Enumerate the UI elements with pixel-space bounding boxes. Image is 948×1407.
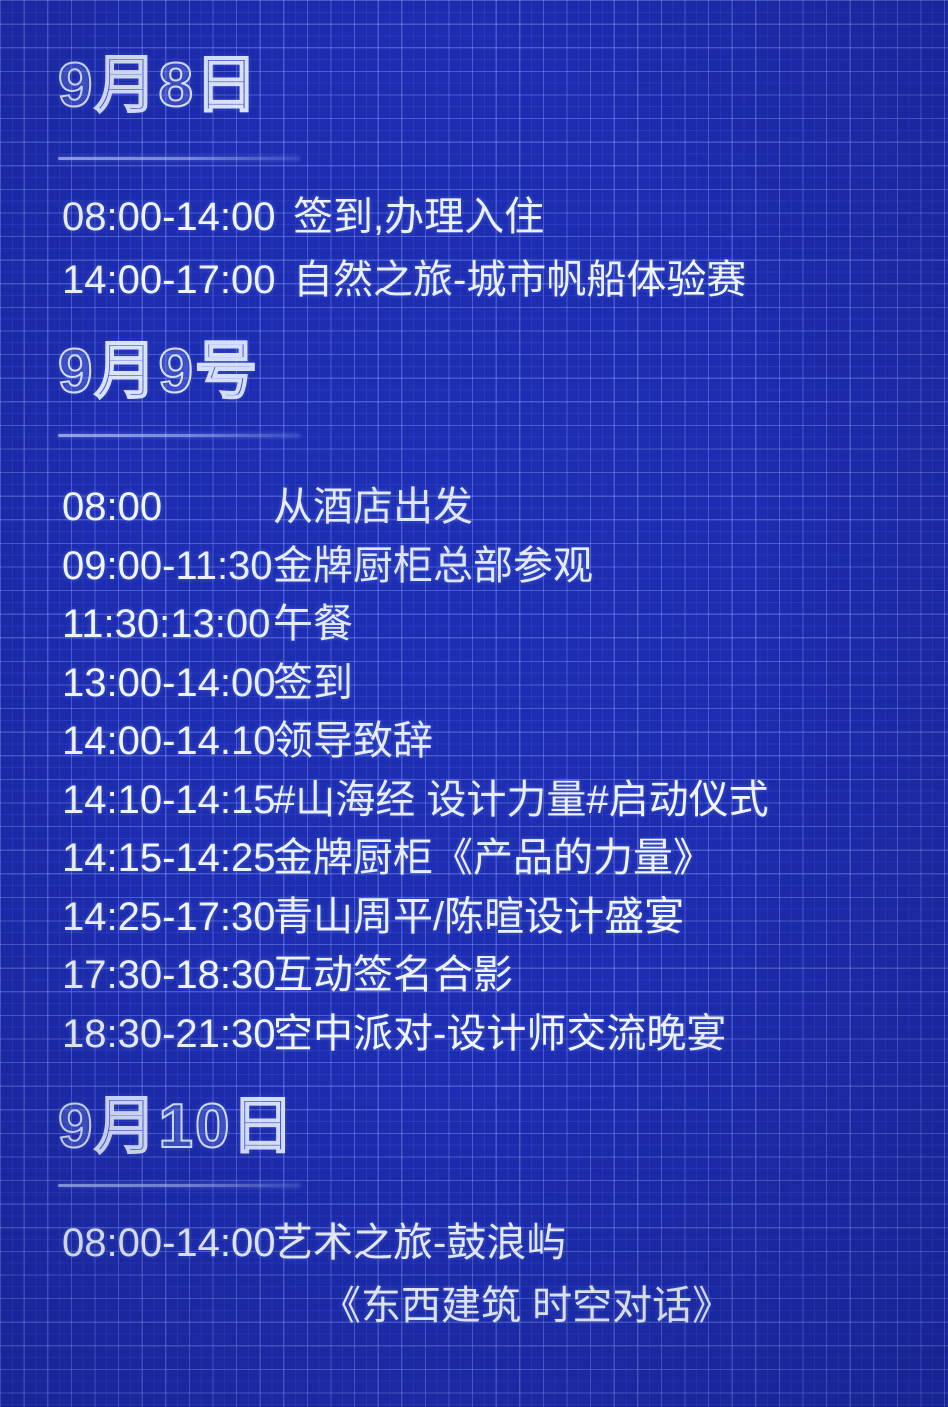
date-heading-day2: 9月9号 (58, 341, 259, 403)
row-description: 签到,办理入住 (293, 186, 544, 249)
schedule-poster: 9月8日 08:00-14:00 签到,办理入住 14:00-17:00 自然之… (0, 0, 948, 1407)
row-time: 14:00-17:00 (0, 249, 293, 312)
section-divider-day1 (58, 157, 300, 160)
schedule-row: 《东西建筑 时空对话》 (0, 1275, 948, 1338)
row-time: 09:00-11:30 (0, 537, 273, 596)
row-time: 13:00-14:00 (0, 654, 273, 713)
row-description: 青山周平/陈暄设计盛宴 (273, 888, 684, 947)
row-description: 领导致辞 (273, 712, 433, 771)
schedule-row: 14:00-17:00 自然之旅-城市帆船体验赛 (0, 249, 948, 312)
schedule-rows-day2: 08:00 从酒店出发 09:00-11:30 金牌厨柜总部参观 11:30:1… (0, 478, 948, 1063)
row-time: 08:00 (0, 478, 273, 537)
schedule-row: 11:30:13:00 午餐 (0, 595, 948, 654)
row-time: 14:15-14:25 (0, 829, 273, 888)
date-heading-day3: 9月10日 (58, 1096, 295, 1158)
row-time: 18:30-21:30 (0, 1005, 273, 1064)
section-divider-day2 (58, 434, 300, 437)
row-time: 14:00-14.10 (0, 712, 273, 771)
schedule-rows-day1: 08:00-14:00 签到,办理入住 14:00-17:00 自然之旅-城市帆… (0, 186, 948, 312)
row-time: 14:10-14:15 (0, 771, 273, 830)
row-description: 午餐 (273, 595, 353, 654)
schedule-row: 14:25-17:30 青山周平/陈暄设计盛宴 (0, 888, 948, 947)
row-description: 互动签名合影 (273, 946, 513, 1005)
schedule-row: 17:30-18:30 互动签名合影 (0, 946, 948, 1005)
row-time: 17:30-18:30 (0, 946, 273, 1005)
schedule-row: 08:00 从酒店出发 (0, 478, 948, 537)
schedule-rows-day3: 08:00-14:00 艺术之旅-鼓浪屿 《东西建筑 时空对话》 (0, 1212, 948, 1338)
row-time: 11:30:13:00 (0, 595, 273, 654)
row-description: #山海经 设计力量#启动仪式 (273, 771, 769, 830)
schedule-row: 09:00-11:30 金牌厨柜总部参观 (0, 537, 948, 596)
row-description: 艺术之旅-鼓浪屿 (273, 1212, 566, 1275)
row-time: 08:00-14:00 (0, 1212, 273, 1275)
section-divider-day3 (58, 1184, 300, 1187)
row-description: 签到 (273, 654, 353, 713)
row-description: 金牌厨柜总部参观 (273, 537, 593, 596)
row-description: 空中派对-设计师交流晚宴 (273, 1005, 726, 1064)
schedule-row: 14:10-14:15 #山海经 设计力量#启动仪式 (0, 771, 948, 830)
schedule-row: 13:00-14:00 签到 (0, 654, 948, 713)
schedule-row: 14:00-14.10 领导致辞 (0, 712, 948, 771)
row-description: 《东西建筑 时空对话》 (273, 1275, 732, 1338)
row-description: 从酒店出发 (273, 478, 473, 537)
row-description: 金牌厨柜《产品的力量》 (273, 829, 713, 888)
schedule-row: 18:30-21:30 空中派对-设计师交流晚宴 (0, 1005, 948, 1064)
date-heading-day1: 9月8日 (58, 55, 259, 117)
schedule-row: 08:00-14:00 签到,办理入住 (0, 186, 948, 249)
row-description: 自然之旅-城市帆船体验赛 (293, 249, 746, 312)
row-time: 14:25-17:30 (0, 888, 273, 947)
schedule-row: 08:00-14:00 艺术之旅-鼓浪屿 (0, 1212, 948, 1275)
row-time: 08:00-14:00 (0, 186, 293, 249)
schedule-row: 14:15-14:25 金牌厨柜《产品的力量》 (0, 829, 948, 888)
